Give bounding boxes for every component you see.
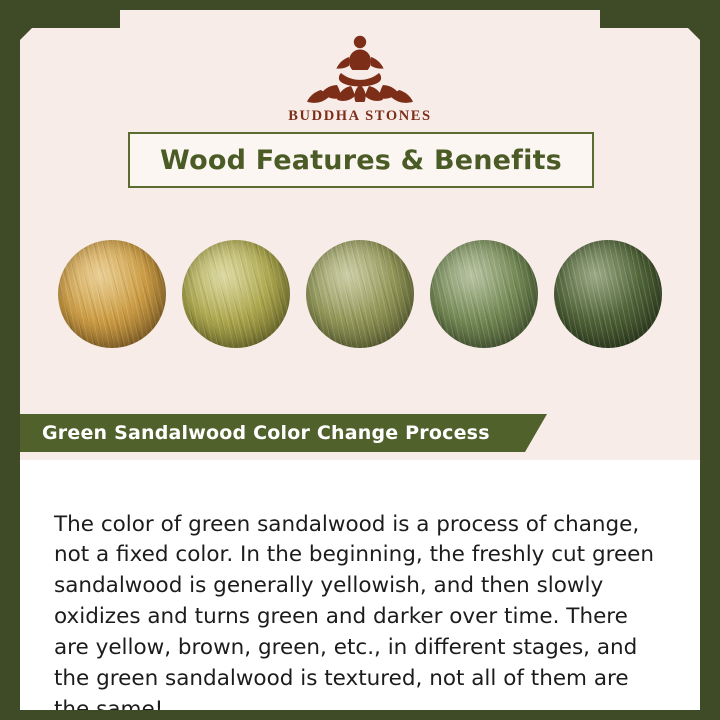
swatch-shading bbox=[430, 240, 538, 348]
swatch-stage-4-green bbox=[430, 240, 538, 348]
page-title: Wood Features & Benefits bbox=[128, 132, 594, 188]
brand-logo: BUDDHA STONES bbox=[20, 28, 700, 125]
page-root: BUDDHA STONES Wood Features & Benefits bbox=[0, 0, 720, 720]
color-swatch-row bbox=[20, 240, 700, 348]
section-ribbon: Green Sandalwood Color Change Process bbox=[20, 414, 525, 452]
swatch-stage-1-yellow bbox=[58, 240, 166, 348]
content-card: BUDDHA STONES Wood Features & Benefits bbox=[20, 10, 700, 710]
section-ribbon-tail bbox=[525, 414, 547, 452]
swatch-shading bbox=[306, 240, 414, 348]
page-title-text: Wood Features & Benefits bbox=[160, 145, 562, 176]
swatch-shading bbox=[182, 240, 290, 348]
swatch-shading bbox=[554, 240, 662, 348]
swatch-stage-2-yellow-green bbox=[182, 240, 290, 348]
swatch-shading bbox=[58, 240, 166, 348]
body-panel: The color of green sandalwood is a proce… bbox=[20, 460, 700, 710]
swatch-stage-5-dark-green bbox=[554, 240, 662, 348]
swatch-stage-3-olive bbox=[306, 240, 414, 348]
section-ribbon-label: Green Sandalwood Color Change Process bbox=[20, 422, 490, 444]
lotus-buddha-icon bbox=[285, 28, 435, 106]
frame-corner-top-right bbox=[600, 0, 720, 28]
body-paragraph: The color of green sandalwood is a proce… bbox=[54, 510, 666, 711]
brand-name: BUDDHA STONES bbox=[20, 108, 700, 125]
frame-corner-top-left bbox=[0, 0, 120, 28]
